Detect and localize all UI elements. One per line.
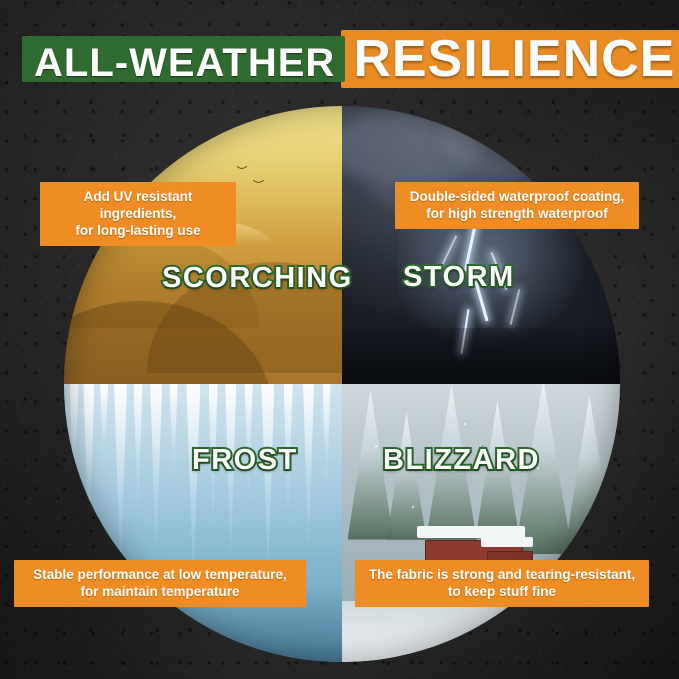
product-feature-graphic: ALL-WEATHER RESILIENCE — [0, 0, 679, 679]
title-part-resilience: RESILIENCE — [341, 30, 679, 88]
callout-waterproof-line2: for high strength waterproof — [405, 205, 629, 222]
callout-low-temperature: Stable performance at low temperature, f… — [14, 560, 306, 607]
callout-tear-resistant: The fabric is strong and tearing-resista… — [355, 560, 649, 607]
scene-frost — [64, 384, 342, 662]
callout-uv-resistant: Add UV resistant ingredients, for long-l… — [40, 182, 236, 246]
label-scorching: SCORCHING — [162, 262, 353, 295]
callout-low-temperature-line2: for maintain temperature — [24, 583, 296, 600]
callout-uv-line1: Add UV resistant ingredients, — [50, 188, 226, 222]
page-title: ALL-WEATHER RESILIENCE — [22, 30, 679, 88]
callout-waterproof-line1: Double-sided waterproof coating, — [405, 188, 629, 205]
header: ALL-WEATHER RESILIENCE — [22, 28, 657, 90]
callout-tear-resistant-line1: The fabric is strong and tearing-resista… — [365, 566, 639, 583]
scene-storm — [342, 106, 620, 384]
scene-blizzard — [342, 384, 620, 662]
callout-low-temperature-line1: Stable performance at low temperature, — [24, 566, 296, 583]
label-blizzard: BLIZZARD — [383, 444, 540, 477]
callout-uv-line2: for long-lasting use — [50, 222, 226, 239]
callout-waterproof: Double-sided waterproof coating, for hig… — [395, 182, 639, 229]
callout-tear-resistant-line2: to keep stuff fine — [365, 583, 639, 600]
label-storm: STORM — [403, 261, 515, 294]
label-frost: FROST — [192, 444, 298, 477]
title-part-all-weather: ALL-WEATHER — [22, 36, 345, 82]
